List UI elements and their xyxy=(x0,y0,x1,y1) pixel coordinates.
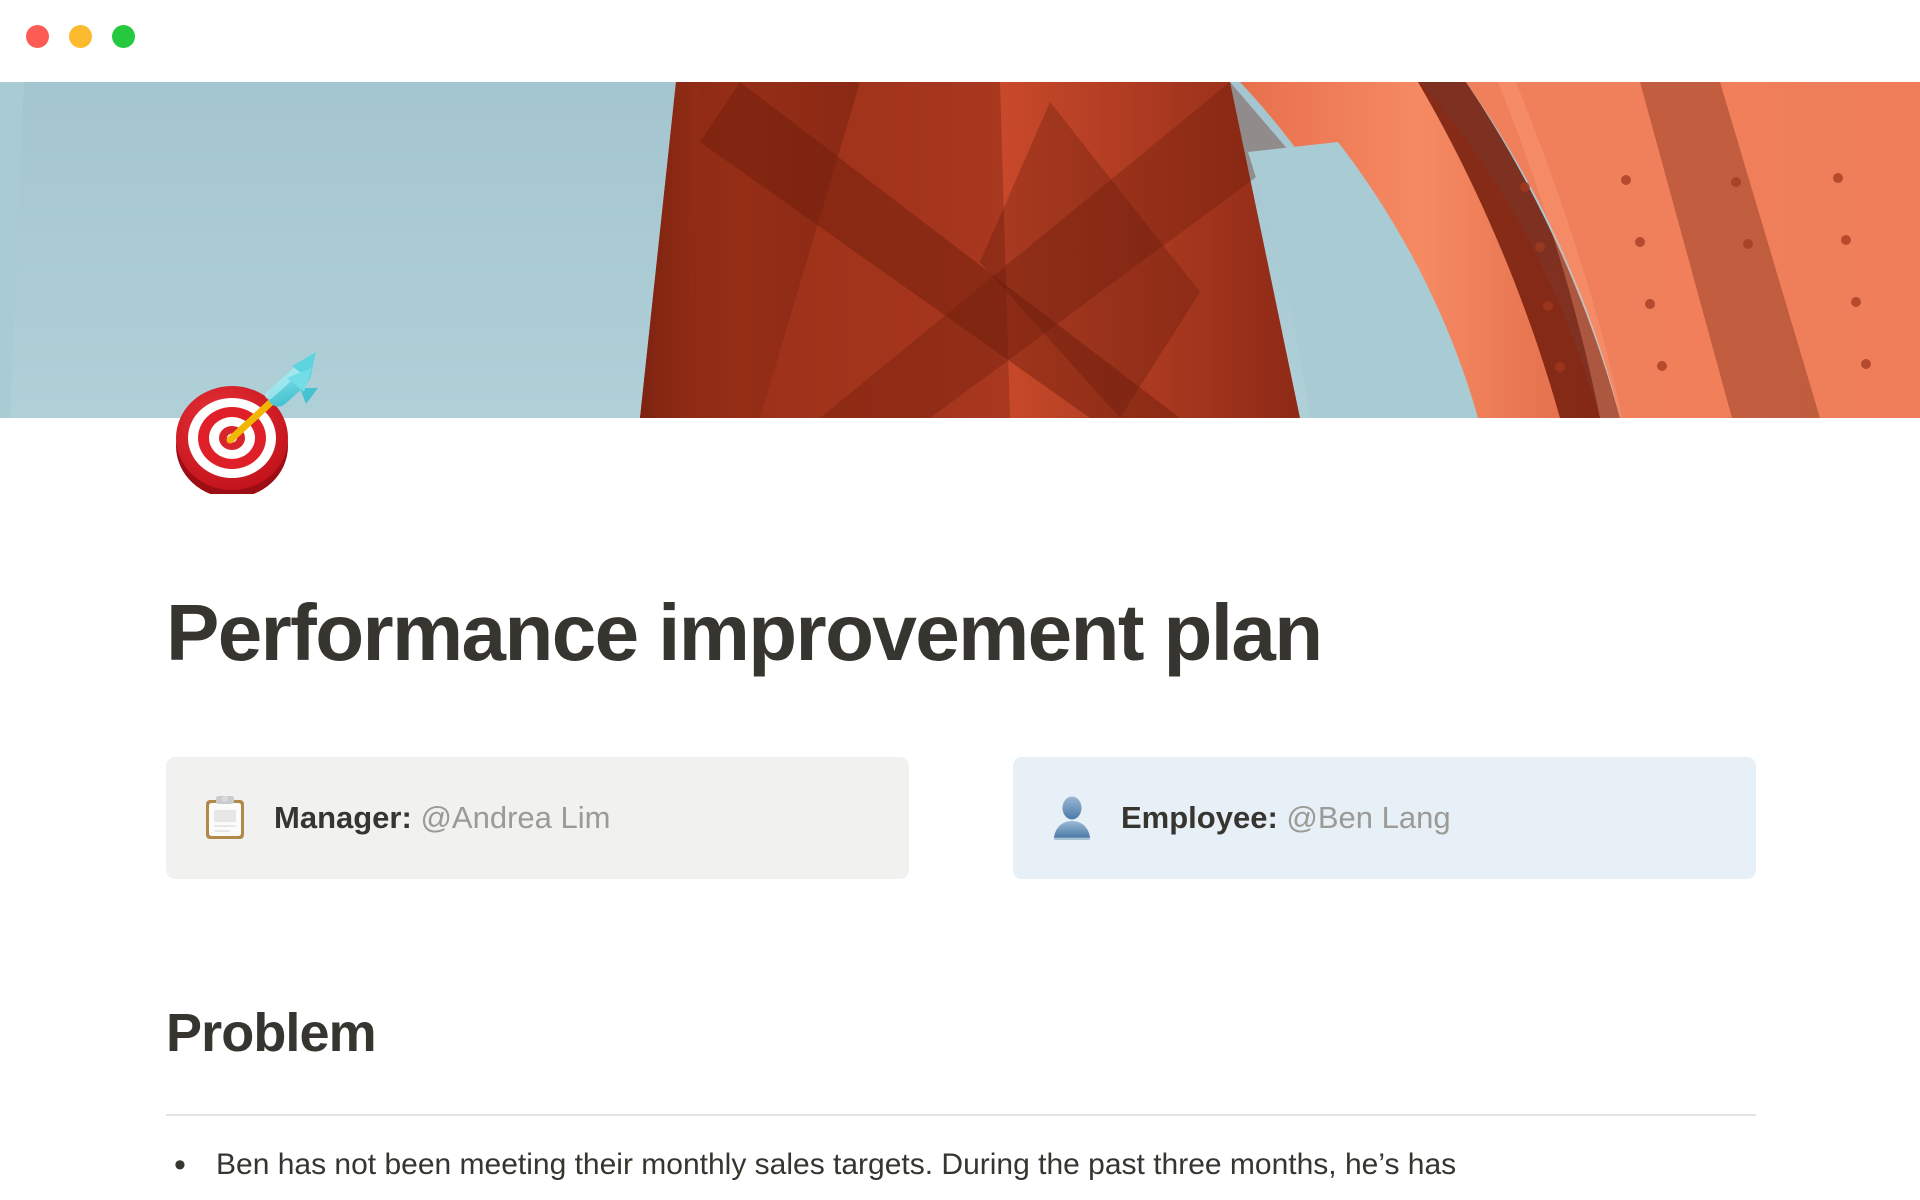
callout-employee-text: Employee: @Ben Lang xyxy=(1121,798,1451,838)
section-heading-problem[interactable]: Problem xyxy=(166,1000,376,1066)
callout-row: Manager: @Andrea Lim Employee: @Ben Lang xyxy=(166,757,1756,879)
window-title-bar xyxy=(0,0,1920,82)
dart-target-icon xyxy=(166,342,318,494)
bullet-marker-icon: • xyxy=(166,1140,194,1190)
callout-employee-mention[interactable]: @Ben Lang xyxy=(1286,800,1450,835)
callout-manager-label: Manager: xyxy=(274,800,412,835)
bust-in-silhouette-icon-svg xyxy=(1051,795,1093,841)
callout-employee-label: Employee: xyxy=(1121,800,1278,835)
callout-manager-mention[interactable]: @Andrea Lim xyxy=(420,800,610,835)
bust-in-silhouette-icon xyxy=(1049,795,1095,841)
maximize-window-button[interactable] xyxy=(112,25,135,48)
minimize-window-button[interactable] xyxy=(69,25,92,48)
list-item-text[interactable]: Ben has not been meeting their monthly s… xyxy=(216,1140,1456,1190)
callout-manager-text: Manager: @Andrea Lim xyxy=(274,798,610,838)
clipboard-icon-svg xyxy=(204,795,246,841)
close-window-button[interactable] xyxy=(26,25,49,48)
problem-bullet-list: • Ben has not been meeting their monthly… xyxy=(166,1140,1766,1190)
list-item[interactable]: • Ben has not been meeting their monthly… xyxy=(166,1140,1766,1190)
page-icon-dart[interactable] xyxy=(166,342,318,494)
clipboard-icon xyxy=(202,795,248,841)
callout-employee[interactable]: Employee: @Ben Lang xyxy=(1013,757,1756,879)
callout-manager[interactable]: Manager: @Andrea Lim xyxy=(166,757,909,879)
section-divider xyxy=(166,1114,1756,1116)
traffic-light-group xyxy=(26,25,135,48)
page-title[interactable]: Performance improvement plan xyxy=(166,585,1766,681)
